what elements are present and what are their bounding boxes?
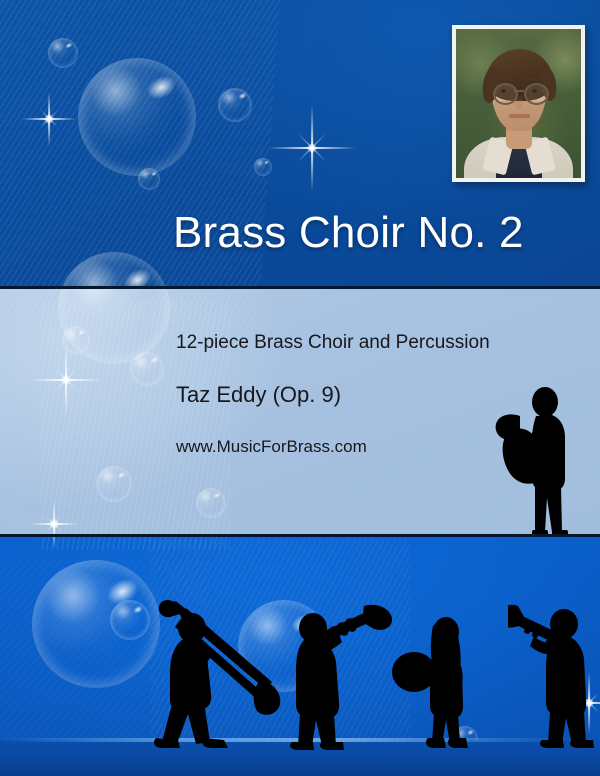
- instrumentation-line: 12-piece Brass Choir and Percussion: [176, 333, 490, 352]
- photo-glasses-lens-right: [524, 83, 549, 105]
- composer-line: Taz Eddy (Op. 9): [176, 384, 490, 406]
- website-line: www.MusicForBrass.com: [176, 438, 490, 455]
- photo-eye-left: [501, 89, 506, 93]
- composer-photo-frame: [452, 25, 585, 182]
- divider-line-lower: [0, 534, 600, 537]
- trombone-player-silhouette: [152, 596, 282, 748]
- trumpet-player-right-silhouette: [508, 598, 600, 748]
- photo-nose: [515, 95, 523, 109]
- photo-mouth: [509, 114, 530, 118]
- divider-line-upper: [0, 286, 600, 289]
- photo-eyebrow-right: [523, 78, 541, 81]
- french-horn-player-silhouette: [392, 610, 488, 752]
- trumpet-player-left-silhouette: [288, 604, 394, 750]
- info-text-block: 12-piece Brass Choir and Percussion Taz …: [176, 333, 490, 455]
- composer-portrait-photo: [456, 29, 581, 178]
- photo-eye-right: [532, 89, 537, 93]
- photo-glasses-bridge: [514, 90, 524, 92]
- page-title: Brass Choir No. 2: [173, 208, 524, 258]
- photo-eyebrow-left: [497, 78, 515, 81]
- tuba-player-silhouette: [490, 382, 576, 537]
- sheet-music-cover: Brass Choir No. 2 12-piece Brass Choir a…: [0, 0, 600, 776]
